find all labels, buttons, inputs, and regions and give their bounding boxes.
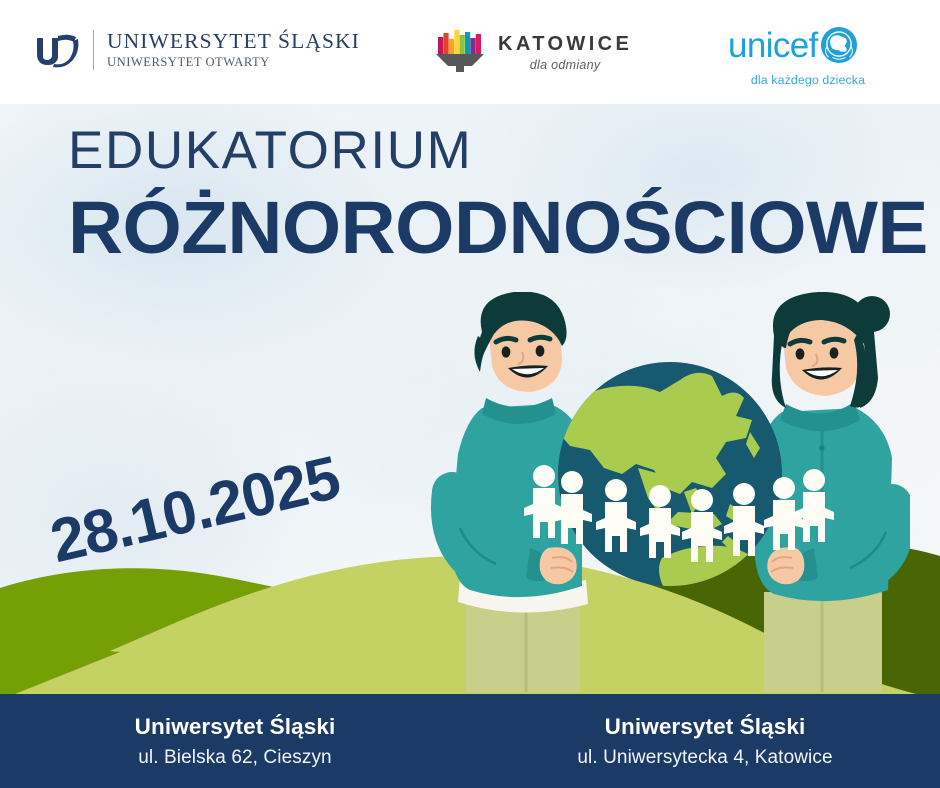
unicef-wordmark: unicef [728,28,818,63]
katowice-logo: KATOWICE dla odmiany [434,28,632,78]
illustration-people-globe [430,292,910,692]
unicef-tagline: dla każdego dziecka [728,73,888,87]
venue-institution: Uniwersytet Śląski [135,714,336,740]
title-line-2: RÓŻNORODNOŚCIOWE [68,191,928,265]
venue-address: ul. Uniwersytecka 4, Katowice [577,747,832,769]
title-line-1: EDUKATORIUM [68,124,903,177]
university-name: UNIWERSYTET ŚLĄSKI [107,31,360,53]
page-title: EDUKATORIUM RÓŻNORODNOŚCIOWE [68,124,903,265]
footer-venue-katowice: Uniwersytet Śląski ul. Uniwersytecka 4, … [470,694,940,788]
venue-institution: Uniwersytet Śląski [605,714,806,740]
unicef-wordmark-row: unicef [728,26,888,64]
unicef-logo: unicef [728,26,888,87]
university-subname: UNIWERSYTET OTWARTY [107,56,360,69]
katowice-slogan: dla odmiany [498,58,632,72]
university-wordmark: UNIWERSYTET ŚLĄSKI UNIWERSYTET OTWARTY [107,31,360,69]
katowice-wordmark: KATOWICE dla odmiany [498,28,632,72]
un-emblem-icon [820,26,858,64]
logo-bar: UNIWERSYTET ŚLĄSKI UNIWERSYTET OTWARTY K… [0,0,940,104]
katowice-heart-icon [434,28,486,78]
poster-canvas: EDUKATORIUM RÓŻNORODNOŚCIOWE 28.10.2025 … [0,0,940,788]
katowice-name: KATOWICE [498,34,632,54]
footer-venue-cieszyn: Uniwersytet Śląski ul. Bielska 62, Ciesz… [0,694,470,788]
logo-divider [93,30,94,70]
university-crest-icon [34,30,80,70]
venue-address: ul. Bielska 62, Cieszyn [138,747,331,769]
university-of-silesia-logo: UNIWERSYTET ŚLĄSKI UNIWERSYTET OTWARTY [34,30,360,70]
footer-bar: Uniwersytet Śląski ul. Bielska 62, Ciesz… [0,694,940,788]
